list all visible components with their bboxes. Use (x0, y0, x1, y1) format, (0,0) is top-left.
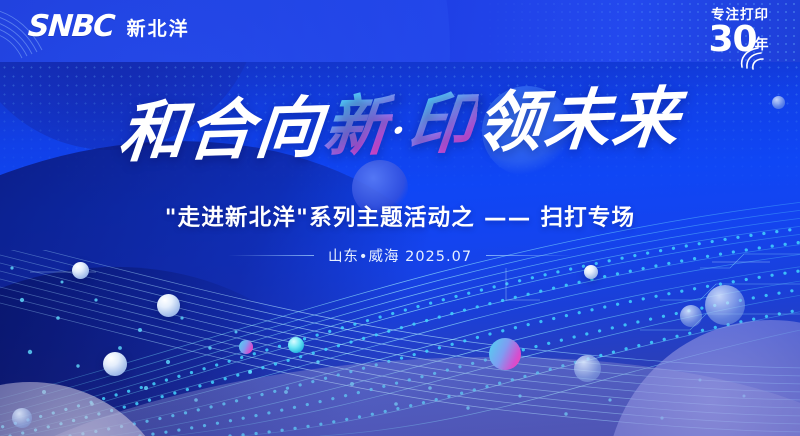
title-line: 和合向新·印领未来 (116, 84, 684, 166)
orb-pink-small (239, 340, 253, 354)
decor-ribbon (0, 325, 800, 436)
subtitle: "走进新北洋"系列主题活动之 —— 扫打专场 (0, 200, 800, 232)
event-banner: SNBC 新北洋 专注打印 30 年 和合向新·印领未来 "走进新北洋"系列主题… (0, 0, 800, 436)
meta-line: 山东•威海 2025.07 (0, 245, 800, 266)
meta-rule-left (228, 255, 314, 256)
brand-name-cn: 新北洋 (127, 14, 190, 41)
snbc-logotype-icon: SNBC (27, 12, 115, 42)
orb-cyan-right (680, 305, 702, 327)
meta-location-date: 山东•威海 2025.07 (314, 245, 486, 266)
orb-white-upper-mid (157, 294, 180, 317)
title-seg-5: 领未来 (473, 78, 685, 162)
brand-logo[interactable]: SNBC 新北洋 (28, 12, 190, 42)
orb-white-center (584, 265, 598, 279)
orb-cyan-small (288, 337, 304, 353)
title-seg-2-gradient: 新 (320, 86, 396, 166)
orb-white-lower-mid (574, 355, 601, 382)
orb-white-right-big (705, 285, 745, 325)
decor-sphere-bottom-left (0, 382, 180, 436)
anniversary-badge: 专注打印 30 年 (694, 8, 786, 58)
title-seg-1: 和合向 (115, 88, 327, 172)
orb-pinkcyan-large (489, 338, 521, 370)
swirl-arc-icon (736, 44, 766, 74)
decor-sphere-bottom-right (606, 320, 800, 436)
orb-white-mid-left (103, 352, 127, 376)
orb-white-edge (12, 408, 32, 428)
main-title: 和合向新·印领未来 (0, 92, 800, 158)
title-seg-4-gradient: 印 (404, 84, 480, 164)
meta-rule-right (486, 255, 572, 256)
